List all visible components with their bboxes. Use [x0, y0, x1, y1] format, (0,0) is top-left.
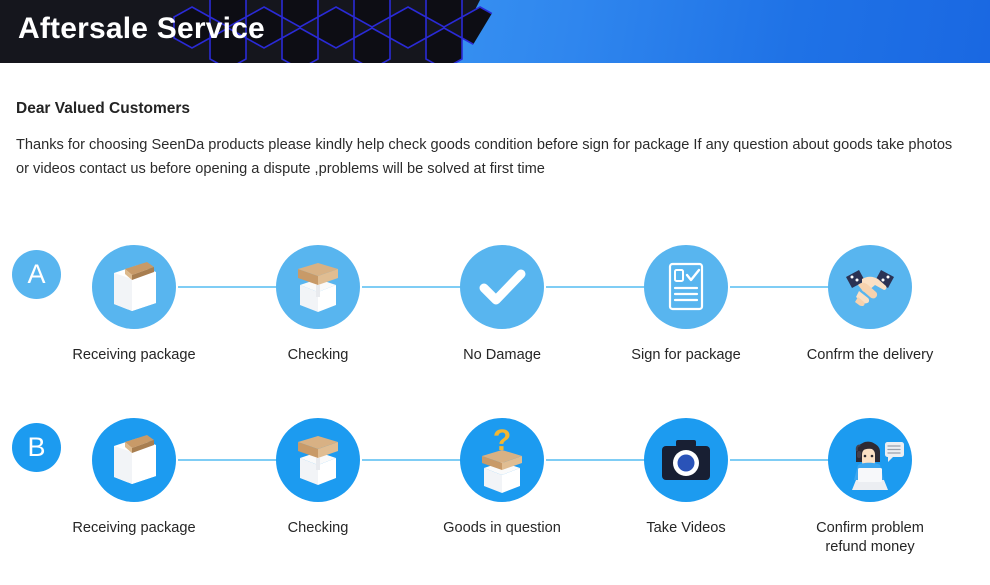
question-box-icon: ?: [460, 418, 544, 502]
step-confirm-refund[interactable]: Confirm problem refund money: [792, 418, 948, 558]
step-label: Receiving package: [56, 346, 212, 365]
step-no-damage[interactable]: No Damage: [424, 245, 580, 365]
step-label: Checking: [240, 519, 396, 538]
camera-icon: [644, 418, 728, 502]
step-label: No Damage: [424, 346, 580, 365]
flow-row-b: B Receiving package: [0, 418, 990, 558]
step-label: Confirm problem refund money: [792, 519, 948, 558]
step-label: Goods in question: [424, 519, 580, 538]
header-banner: Aftersale Service: [0, 0, 990, 63]
step-checking[interactable]: Checking: [240, 245, 396, 365]
step-take-videos[interactable]: Take Videos: [608, 418, 764, 538]
step-label: Take Videos: [608, 519, 764, 538]
flow-row-a: A Receiving package: [0, 245, 990, 385]
handshake-icon: [828, 245, 912, 329]
closed-package-box-icon: [92, 245, 176, 329]
greeting-text: Dear Valued Customers: [16, 100, 966, 118]
row-badge-a: A: [12, 250, 61, 299]
open-box-icon: [276, 245, 360, 329]
step-receiving-package[interactable]: Receiving package: [56, 418, 212, 538]
step-checking[interactable]: Checking: [240, 418, 396, 538]
support-agent-icon: [828, 418, 912, 502]
page-title: Aftersale Service: [18, 12, 265, 46]
step-receiving-package[interactable]: Receiving package: [56, 245, 212, 365]
row-badge-b: B: [12, 423, 61, 472]
step-label: Sign for package: [608, 346, 764, 365]
signed-document-icon: [644, 245, 728, 329]
step-label: Confrm the delivery: [792, 346, 948, 365]
aftersale-service-page: Aftersale Service Dear Valued Customers …: [0, 0, 990, 585]
closed-package-box-icon: [92, 418, 176, 502]
step-label: Receiving package: [56, 519, 212, 538]
intro-block: Dear Valued Customers Thanks for choosin…: [16, 100, 966, 181]
step-goods-in-question[interactable]: ? Goods in question: [424, 418, 580, 538]
open-box-icon: [276, 418, 360, 502]
step-confirm-delivery[interactable]: Confrm the delivery: [792, 245, 948, 365]
checkmark-icon: [460, 245, 544, 329]
step-sign-for-package[interactable]: Sign for package: [608, 245, 764, 365]
intro-body-text: Thanks for choosing SeenDa products plea…: [16, 134, 964, 181]
step-label: Checking: [240, 346, 396, 365]
